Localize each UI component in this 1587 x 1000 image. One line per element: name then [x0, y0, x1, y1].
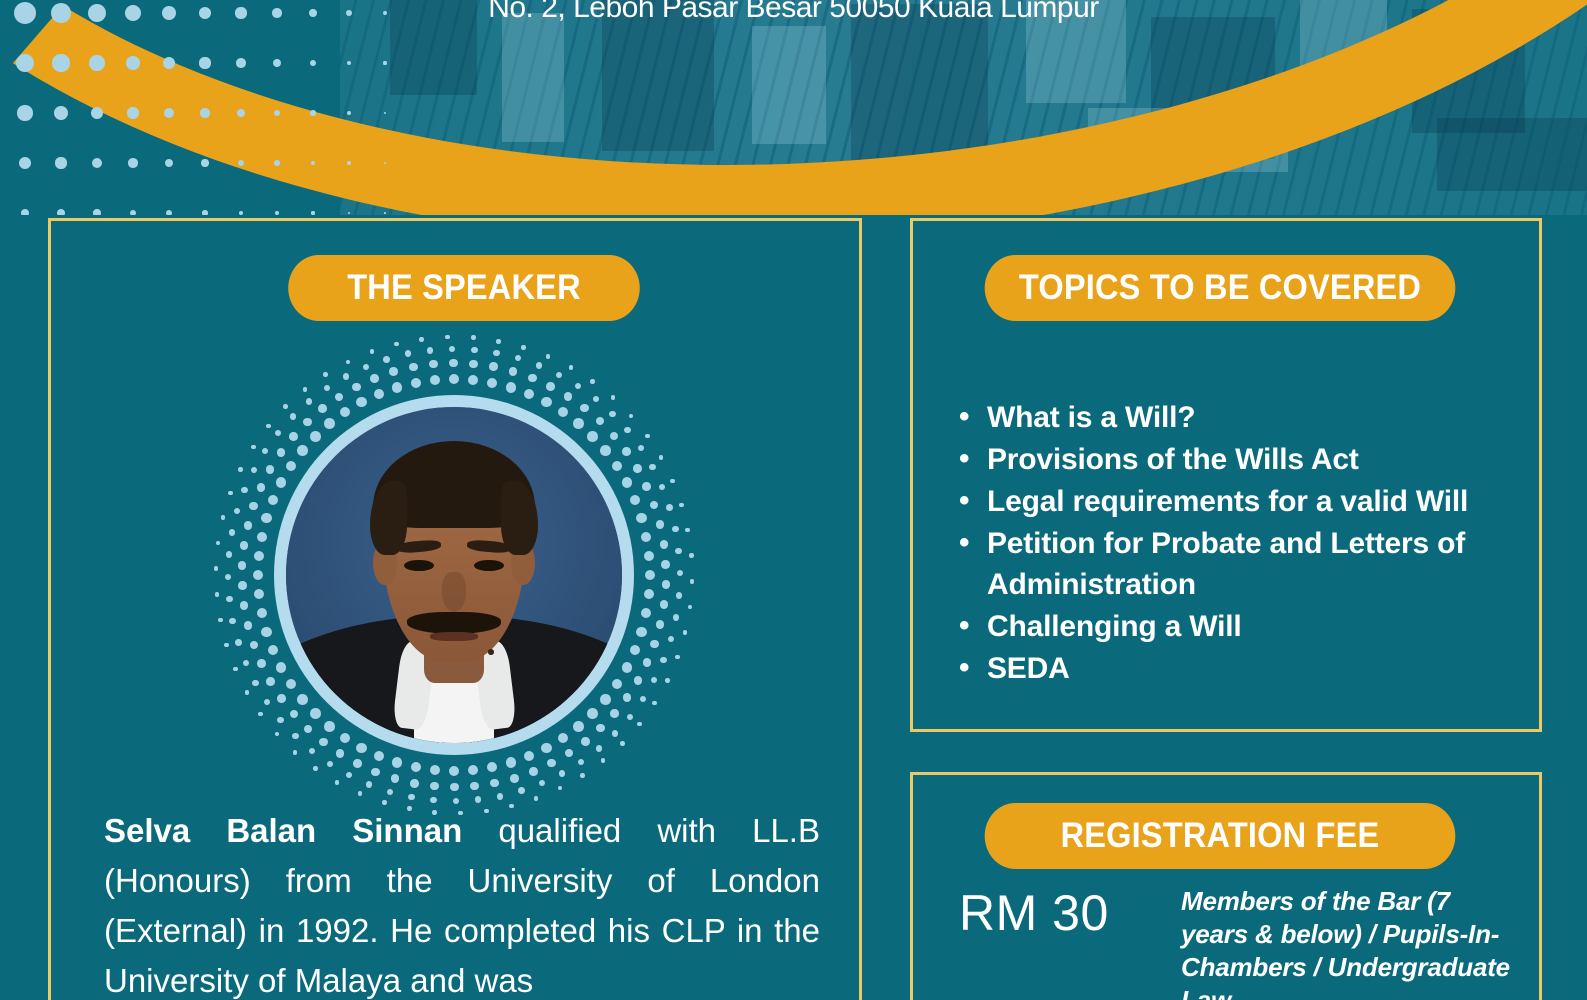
- fee-panel-title: REGISTRATION FEE: [985, 803, 1456, 869]
- registration-fee-panel: REGISTRATION FEE RM 30 Members of the Ba…: [910, 772, 1542, 1000]
- topics-list: What is a Will? Provisions of the Wills …: [949, 397, 1527, 690]
- dotted-halo-decoration: [218, 339, 690, 811]
- list-item: Challenging a Will: [949, 606, 1527, 647]
- fee-row: RM 30 Members of the Bar (7 years & belo…: [943, 885, 1523, 1000]
- topics-panel: TOPICS TO BE COVERED What is a Will? Pro…: [910, 218, 1542, 732]
- halftone-dot-grid: [0, 0, 380, 200]
- venue-address: No. 2, Leboh Pasar Besar 50050 Kuala Lum…: [0, 0, 1587, 25]
- list-item: SEDA: [949, 648, 1527, 689]
- header-banner: No. 2, Leboh Pasar Besar 50050 Kuala Lum…: [0, 0, 1587, 215]
- list-item: Legal requirements for a valid Will: [949, 481, 1527, 522]
- speaker-name: Selva Balan Sinnan: [104, 812, 462, 849]
- topics-panel-title: TOPICS TO BE COVERED: [985, 255, 1456, 321]
- list-item: Provisions of the Wills Act: [949, 439, 1527, 480]
- list-item: Petition for Probate and Letters of Admi…: [949, 523, 1527, 605]
- photo-ring: [274, 395, 634, 755]
- speaker-bio: Selva Balan Sinnan qualified with LL.B (…: [104, 806, 820, 1000]
- speaker-portrait: [286, 407, 622, 743]
- speaker-panel-title: THE SPEAKER: [288, 255, 640, 321]
- fee-amount: RM 30: [943, 885, 1181, 941]
- list-item: What is a Will?: [949, 397, 1527, 438]
- fee-description: Members of the Bar (7 years & below) / P…: [1181, 885, 1523, 1000]
